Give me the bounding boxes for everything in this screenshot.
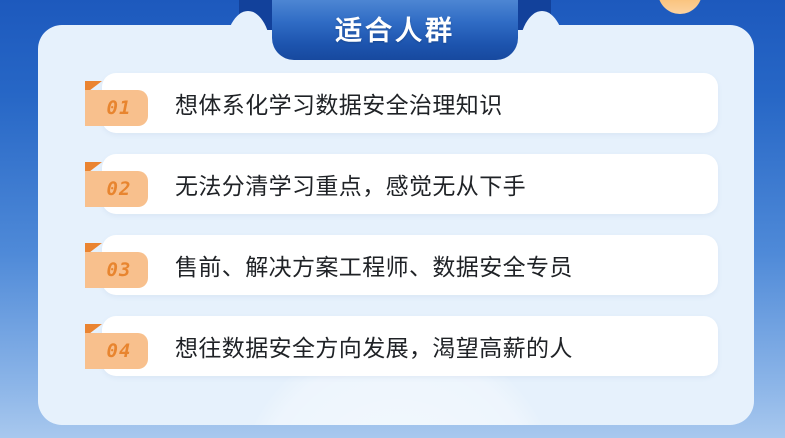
item-number-badge: 01 — [85, 81, 148, 126]
list-item-label: 想体系化学习数据安全治理知识 — [175, 73, 503, 133]
ribbon-body: 适合人群 — [272, 0, 518, 60]
orange-circle-decoration-icon — [658, 0, 702, 14]
item-number-badge: 03 — [85, 243, 148, 288]
list-item: 02 无法分清学习重点，感觉无从下手 — [102, 154, 718, 214]
badge-body: 03 — [85, 252, 148, 288]
badge-number: 04 — [102, 342, 132, 361]
badge-body: 01 — [85, 90, 148, 126]
item-number-badge: 02 — [85, 162, 148, 207]
page-title: 适合人群 — [335, 15, 455, 45]
list-item-label: 无法分清学习重点，感觉无从下手 — [175, 154, 526, 214]
list-item: 01 想体系化学习数据安全治理知识 — [102, 73, 718, 133]
audience-list: 01 想体系化学习数据安全治理知识 02 无法分清学习重点，感觉无从下手 03 … — [102, 73, 718, 376]
badge-number: 03 — [102, 261, 132, 280]
item-number-badge: 04 — [85, 324, 148, 369]
badge-body: 02 — [85, 171, 148, 207]
badge-number: 01 — [102, 99, 132, 118]
list-item: 03 售前、解决方案工程师、数据安全专员 — [102, 235, 718, 295]
list-item: 04 想往数据安全方向发展，渴望高薪的人 — [102, 316, 718, 376]
list-item-label: 想往数据安全方向发展，渴望高薪的人 — [175, 316, 573, 376]
list-item-label: 售前、解决方案工程师、数据安全专员 — [175, 235, 573, 295]
badge-body: 04 — [85, 333, 148, 369]
section-header-ribbon: 适合人群 — [272, 0, 518, 60]
badge-number: 02 — [102, 180, 132, 199]
poster-stage: 适合人群 01 想体系化学习数据安全治理知识 02 无法分清学习重点，感觉无从下… — [0, 0, 785, 438]
